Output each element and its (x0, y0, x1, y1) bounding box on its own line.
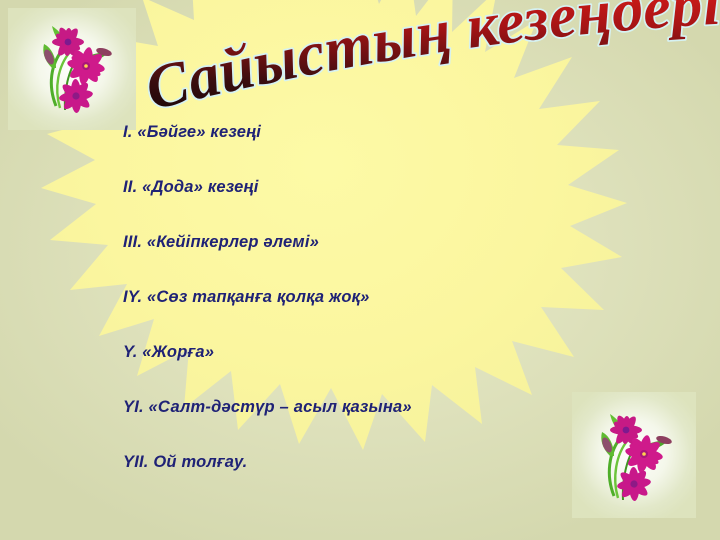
stage-item-4: IY. «Сөз тапқанға қолқа жоқ» (123, 289, 683, 344)
stage-item-5: Y. «Жорға» (123, 344, 683, 399)
stage-item-1: I. «Бәйге» кезеңі (123, 124, 683, 179)
lily-icon (42, 26, 113, 114)
lily-icon (600, 414, 673, 502)
lily-flowers-bottom-right (572, 392, 696, 518)
presentation-slide: Сайыстың кезеңдері Сайыстың кезеңдері I.… (0, 0, 720, 540)
svg-text:Сайыстың кезеңдері: Сайыстың кезеңдері (139, 0, 720, 124)
stage-item-2: II. «Дода» кезеңі (123, 179, 683, 234)
stage-item-3: III. «Кейіпкерлер әлемі» (123, 234, 683, 289)
slide-title: Сайыстың кезеңдері Сайыстың кезеңдері (140, 6, 720, 126)
lily-flowers-top-left (8, 8, 136, 130)
slide-title-text: Сайыстың кезеңдері (139, 0, 720, 124)
